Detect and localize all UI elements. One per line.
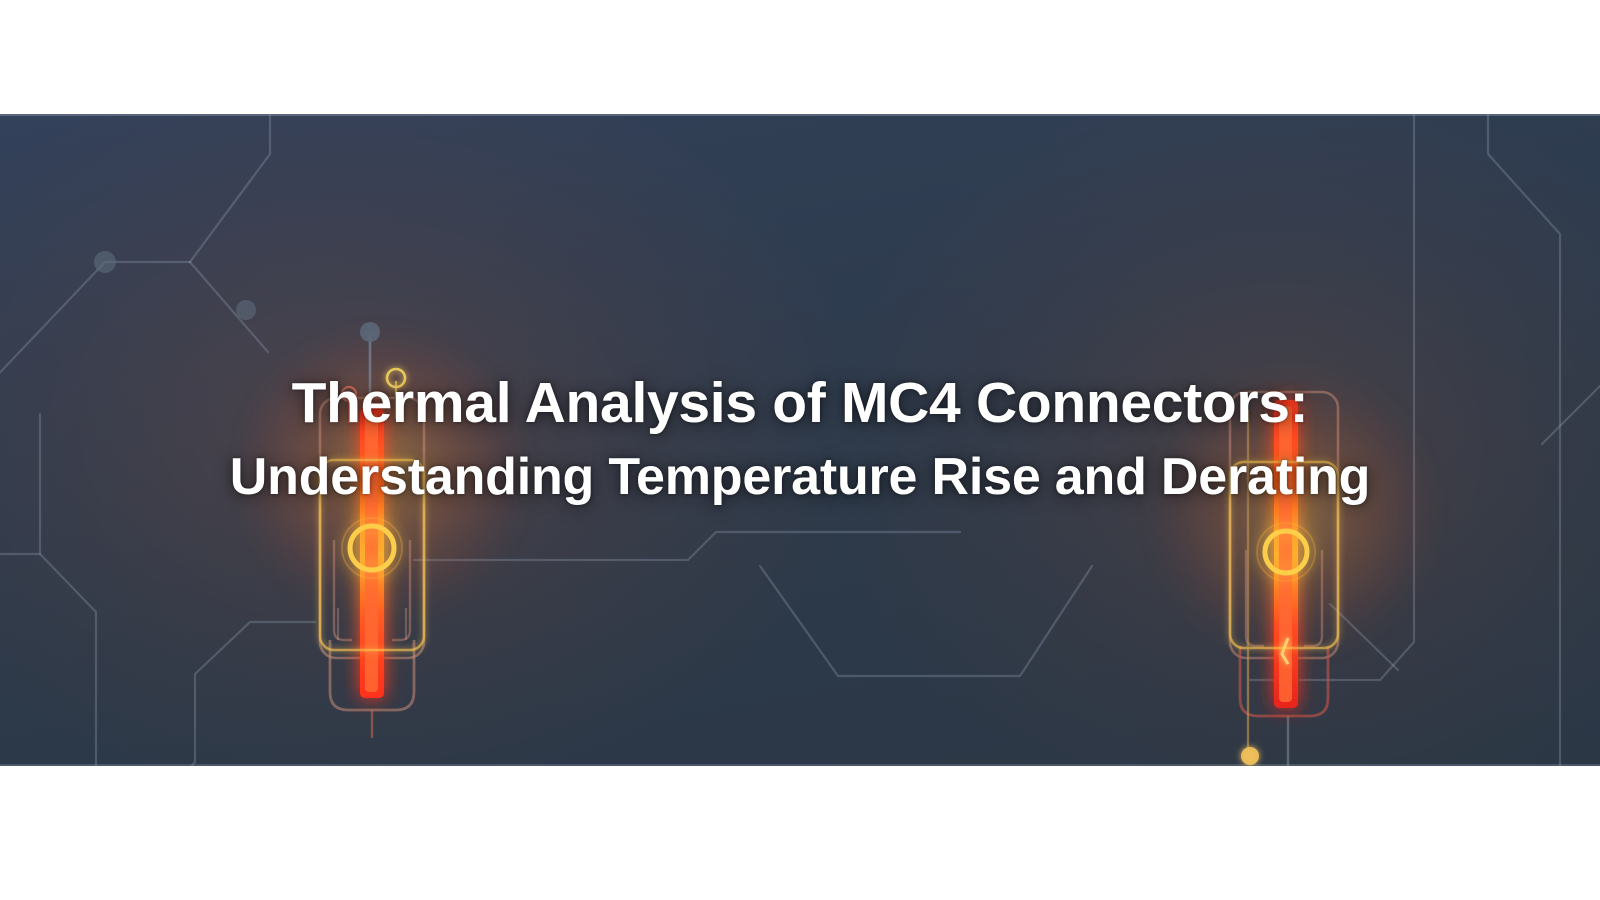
mc4-connector-left-graphic [286,210,476,740]
hero-banner: Thermal Analysis of MC4 Connectors: Unde… [0,114,1600,766]
circuit-node [236,300,256,320]
page-root: Thermal Analysis of MC4 Connectors: Unde… [0,0,1600,900]
circuit-node [94,251,116,273]
mc4-connector-right-graphic [1196,250,1386,766]
